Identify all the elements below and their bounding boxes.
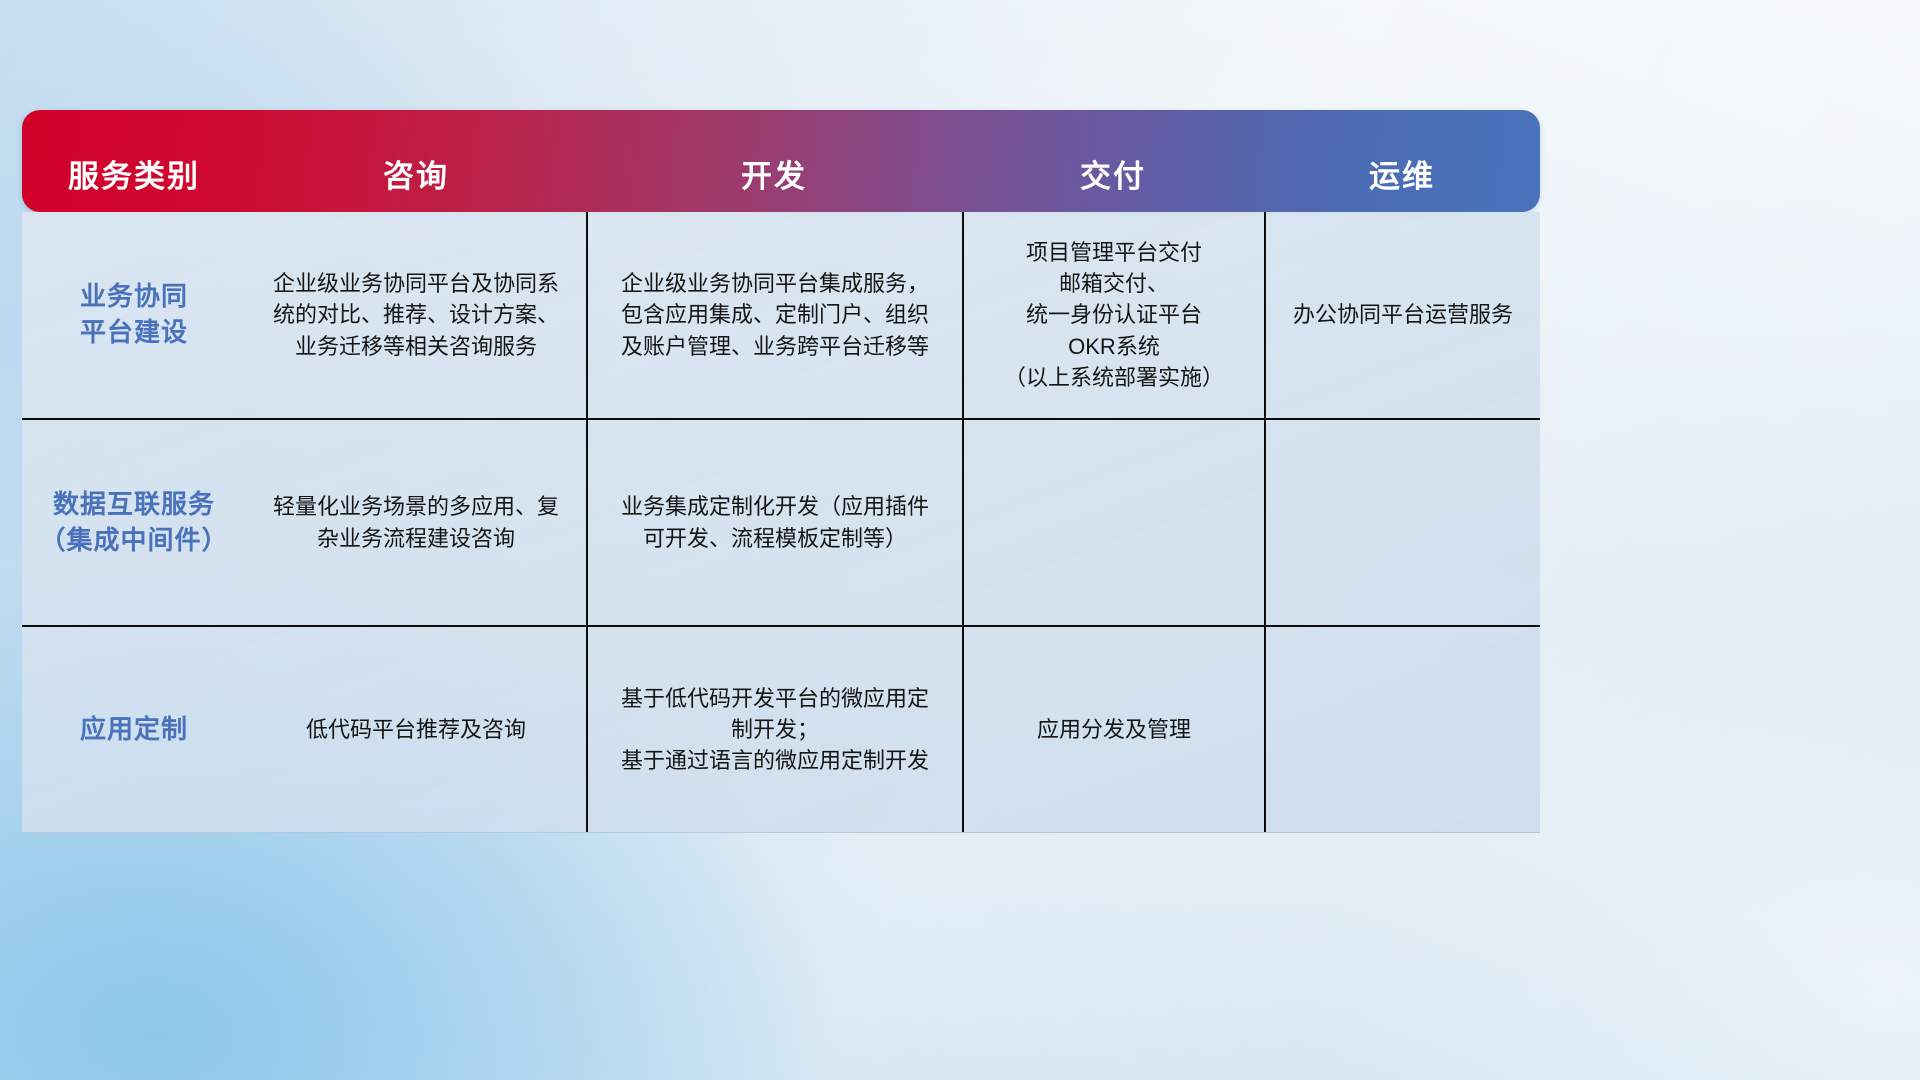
row-category-label: 数据互联服务 （集成中间件）	[22, 420, 246, 625]
cell-consulting: 企业级业务协同平台及协同系 统的对比、推荐、设计方案、 业务迁移等相关咨询服务	[246, 212, 586, 418]
cell-delivery	[962, 420, 1264, 625]
cell-operations: 办公协同平台运营服务	[1264, 212, 1540, 418]
cell-operations	[1264, 627, 1540, 832]
cell-development: 业务集成定制化开发（应用插件 可开发、流程模板定制等）	[586, 420, 962, 625]
cell-consulting: 轻量化业务场景的多应用、复 杂业务流程建设咨询	[246, 420, 586, 625]
table-header-row: 服务类别 咨询 开发 交付 运维	[22, 110, 1540, 212]
cell-development: 企业级业务协同平台集成服务， 包含应用集成、定制门户、组织 及账户管理、业务跨平…	[586, 212, 962, 418]
row-category-label: 应用定制	[22, 627, 246, 832]
column-header-delivery: 交付	[962, 110, 1264, 212]
table-row: 业务协同 平台建设 企业级业务协同平台及协同系 统的对比、推荐、设计方案、 业务…	[22, 212, 1540, 418]
cell-delivery: 项目管理平台交付 邮箱交付、 统一身份认证平台 OKR系统 （以上系统部署实施）	[962, 212, 1264, 418]
cell-consulting: 低代码平台推荐及咨询	[246, 627, 586, 832]
row-category-label: 业务协同 平台建设	[22, 212, 246, 418]
cell-operations	[1264, 420, 1540, 625]
table-row: 数据互联服务 （集成中间件） 轻量化业务场景的多应用、复 杂业务流程建设咨询 业…	[22, 418, 1540, 625]
service-category-table: 服务类别 咨询 开发 交付 运维 业务协同 平台建设 企业级业务协同平台及协同系…	[22, 110, 1540, 833]
table-row: 应用定制 低代码平台推荐及咨询 基于低代码开发平台的微应用定 制开发； 基于通过…	[22, 625, 1540, 832]
cell-development: 基于低代码开发平台的微应用定 制开发； 基于通过语言的微应用定制开发	[586, 627, 962, 832]
column-header-operations: 运维	[1264, 110, 1540, 212]
column-header-category: 服务类别	[22, 110, 246, 212]
table-body: 业务协同 平台建设 企业级业务协同平台及协同系 统的对比、推荐、设计方案、 业务…	[22, 212, 1540, 833]
column-header-consulting: 咨询	[246, 110, 586, 212]
cell-delivery: 应用分发及管理	[962, 627, 1264, 832]
column-header-development: 开发	[586, 110, 962, 212]
